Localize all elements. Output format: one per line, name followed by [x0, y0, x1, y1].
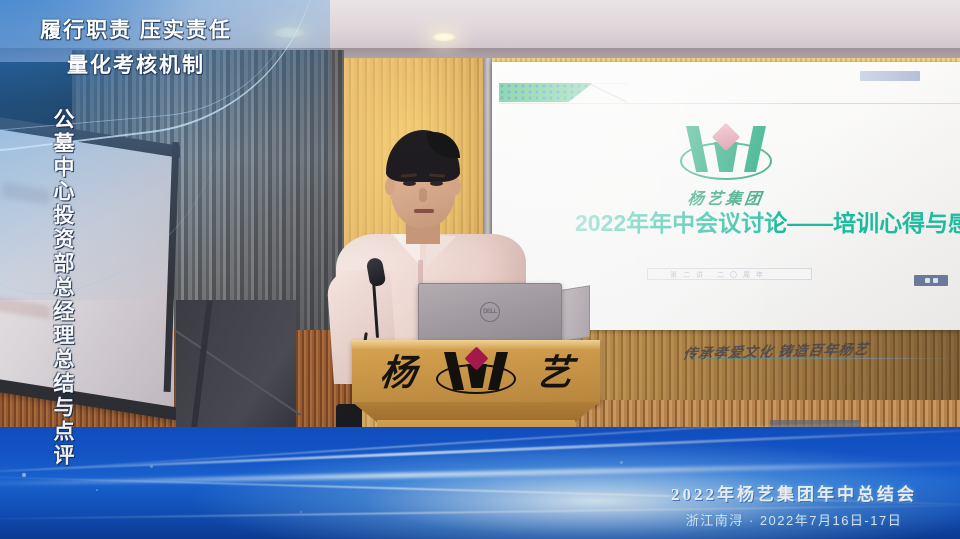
- slide-top-watermark: [860, 71, 920, 81]
- speaker-ear: [385, 178, 395, 195]
- calligraphy-banner: 传承孝爱文化 铸造百年杨艺: [684, 340, 960, 366]
- event-title: 2022年杨艺集团年中总结会: [644, 480, 944, 505]
- overlay-headline-line1: 履行职责 压实责任: [0, 14, 272, 44]
- slide-controls-badge[interactable]: [914, 275, 948, 286]
- overlay-headline-line2: 量化考核机制: [0, 49, 272, 79]
- slide-control-icon[interactable]: [933, 278, 938, 283]
- laptop-icon: DELL: [418, 283, 562, 341]
- speaker-mouth: [414, 209, 434, 213]
- podium-char-right: 艺: [534, 355, 574, 391]
- overlay-vertical-caption: 公墓中心投资部总经理总结与点评: [52, 108, 73, 468]
- speaker-ear: [451, 178, 461, 195]
- overlay-headline: 履行职责 压实责任 量化考核机制: [0, 14, 330, 79]
- calligraphy-underline: [678, 358, 960, 359]
- calligraphy-text: 传承孝爱文化 铸造百年杨艺: [681, 336, 960, 363]
- yangyi-logo-icon: [430, 350, 522, 396]
- conference-photo: 杨艺集团 2022年年中会议讨论——培训心得与感 第二讲 二〇周年 传承孝爱文化…: [0, 0, 960, 539]
- speaker-nose: [419, 188, 427, 202]
- bottom-wave-graphic: 2022年杨艺集团年中总结会 浙江南浔 · 2022年7月16日-17日: [0, 427, 960, 539]
- speaker-eye: [430, 181, 443, 186]
- slide-control-icon[interactable]: [925, 278, 930, 283]
- podium-brand: 杨 艺: [352, 345, 600, 401]
- laptop-brand-logo: DELL: [480, 302, 500, 322]
- event-subtitle: 浙江南浔 · 2022年7月16日-17日: [644, 510, 944, 529]
- podium-bevel: [352, 402, 600, 422]
- speaker-eye: [403, 181, 416, 186]
- ceiling-downlight-icon: [431, 32, 457, 42]
- podium-char-left: 杨: [378, 355, 418, 391]
- event-title-block: 2022年杨艺集团年中总结会 浙江南浔 · 2022年7月16日-17日: [644, 480, 944, 529]
